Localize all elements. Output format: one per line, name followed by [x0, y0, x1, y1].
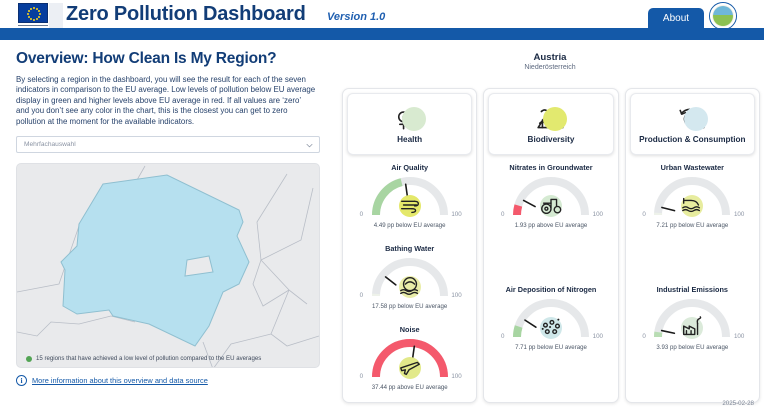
gauge-max-label: 100 — [451, 292, 461, 299]
category-icon-highlight — [543, 107, 567, 131]
eu-star-icon — [38, 16, 40, 18]
region-country: Austria — [336, 52, 764, 63]
map-legend: 15 regions that have achieved a low leve… — [26, 355, 261, 362]
gauge-min-label: 0 — [360, 373, 363, 380]
eu-star-icon — [30, 18, 32, 20]
info-icon: i — [16, 375, 27, 386]
eu-star-icon — [28, 10, 30, 12]
eea-emblem-logo — [709, 2, 737, 30]
eu-star-icon — [28, 16, 30, 18]
gauge-area: 0100 — [358, 173, 462, 221]
eu-flag-icon — [18, 3, 48, 23]
overview-description: By selecting a region in the dashboard, … — [16, 75, 316, 127]
category-icon-wrap — [675, 104, 709, 134]
gauge-area: 0100 — [499, 173, 603, 221]
app-version: Version 1.0 — [327, 11, 385, 23]
region-multiselect-placeholder: Mehrfachauswahl — [24, 141, 76, 148]
gauge-max-label: 100 — [593, 211, 603, 218]
selected-region-header: Austria Niederösterreich — [336, 40, 764, 71]
gauge-max-label: 100 — [734, 211, 744, 218]
indicator-gauge[interactable]: Air Deposition of Nitrogen 01007.71 pp b… — [484, 281, 617, 403]
gauge-max-label: 100 — [451, 373, 461, 380]
eu-star-icon — [33, 7, 35, 9]
indicators-panel: Austria Niederösterreich HealthAir Quali… — [336, 40, 764, 411]
airplane-noise-icon — [398, 355, 422, 379]
gauge-min-label: 0 — [360, 292, 363, 299]
indicator-title: Air Deposition of Nitrogen — [506, 285, 597, 294]
eu-logo-side-block — [49, 3, 63, 31]
indicator-caption: 1.93 pp above EU average — [515, 222, 588, 229]
selected-region-shape[interactable] — [61, 175, 249, 346]
page-title: Overview: How Clean Is My Region? — [16, 50, 322, 68]
indicator-caption: 3.93 pp below EU average — [656, 344, 728, 351]
eu-star-icon — [30, 8, 32, 10]
indicator-gauge[interactable]: Bathing Water 010017.58 pp below EU aver… — [343, 240, 476, 321]
gauge-max-label: 100 — [451, 211, 461, 218]
indicator-caption: 7.21 pp below EU average — [656, 222, 728, 229]
date-stamp: 2025-02-28 — [722, 400, 754, 407]
indicator-list: Nitrates in Groundwater 01001.93 pp abov… — [484, 159, 617, 402]
region-name: Niederösterreich — [336, 64, 764, 71]
gauge-max-label: 100 — [593, 333, 603, 340]
region-multiselect[interactable]: Mehrfachauswahl — [16, 136, 320, 153]
indicator-title: Noise — [400, 325, 420, 334]
factory-icon — [680, 315, 704, 339]
bathing-water-icon — [398, 274, 422, 298]
gauge-area: 0100 — [358, 254, 462, 302]
region-map[interactable]: 15 regions that have achieved a low leve… — [16, 163, 320, 368]
indicator-gauge[interactable]: Nitrates in Groundwater 01001.93 pp abov… — [484, 159, 617, 281]
indicator-gauge[interactable]: Industrial Emissions 01003.93 pp below E… — [626, 281, 759, 403]
indicator-title: Bathing Water — [385, 244, 434, 253]
category-label: Health — [397, 135, 422, 144]
gauge-area: 0100 — [358, 335, 462, 383]
more-information-link[interactable]: i More information about this overview a… — [16, 375, 322, 386]
indicator-title: Air Quality — [391, 163, 428, 172]
eu-star-icon — [33, 19, 35, 21]
category-icon-highlight — [402, 107, 426, 131]
gauge-area: 0100 — [499, 295, 603, 343]
indicator-gauge[interactable]: Air Quality 01004.49 pp below EU average — [343, 159, 476, 240]
overview-panel: Overview: How Clean Is My Region? By sel… — [0, 40, 336, 411]
gauge-area: 0100 — [640, 173, 744, 221]
indicator-title: Nitrates in Groundwater — [509, 163, 592, 172]
indicator-caption: 37.44 pp above EU average — [372, 384, 448, 391]
gauge-min-label: 0 — [501, 333, 504, 340]
category-column: BiodiversityNitrates in Groundwater 0100… — [483, 88, 618, 403]
category-columns: HealthAir Quality 01004.49 pp below EU a… — [342, 88, 760, 403]
gauge-area: 0100 — [640, 295, 744, 343]
wastewater-pipe-icon — [680, 193, 704, 217]
eea-emblem-ring — [710, 3, 736, 29]
category-card-health[interactable]: Health — [347, 93, 472, 155]
indicator-caption: 4.49 pp below EU average — [374, 222, 446, 229]
chevron-down-icon — [306, 142, 313, 149]
app-title: Zero Pollution Dashboard — [66, 3, 306, 26]
indicator-gauge[interactable]: Noise 010037.44 pp above EU average — [343, 321, 476, 402]
category-label: Biodiversity — [528, 135, 575, 144]
gauge-max-label: 100 — [734, 333, 744, 340]
air-quality-wind-icon — [398, 193, 422, 217]
eu-star-icon — [36, 18, 38, 20]
header-accent-bar — [0, 28, 764, 40]
indicator-list: Urban Wastewater 01007.21 pp below EU av… — [626, 159, 759, 402]
gauge-min-label: 0 — [642, 211, 645, 218]
nitrogen-particles-icon — [539, 315, 563, 339]
more-information-label: More information about this overview and… — [32, 376, 208, 385]
map-legend-label: 15 regions that have achieved a low leve… — [36, 355, 261, 362]
category-icon-wrap — [534, 104, 568, 134]
indicator-title: Industrial Emissions — [657, 285, 728, 294]
indicator-caption: 7.71 pp below EU average — [515, 344, 587, 351]
app-header: Zero Pollution Dashboard Version 1.0 Abo… — [0, 0, 764, 40]
indicator-title: Urban Wastewater — [661, 163, 724, 172]
category-column: Production & ConsumptionUrban Wastewater… — [625, 88, 760, 403]
category-icon-wrap — [393, 104, 427, 134]
category-card-biodiversity[interactable]: Biodiversity — [488, 93, 613, 155]
tab-about[interactable]: About — [648, 8, 704, 29]
legend-dot-icon — [26, 356, 32, 362]
tractor-icon — [539, 193, 563, 217]
category-card-production-consumption[interactable]: Production & Consumption — [630, 93, 755, 155]
category-icon-highlight — [684, 107, 708, 131]
map-canvas[interactable] — [17, 164, 320, 368]
category-column: HealthAir Quality 01004.49 pp below EU a… — [342, 88, 477, 403]
gauge-min-label: 0 — [642, 333, 645, 340]
eu-star-icon — [38, 10, 40, 12]
category-label: Production & Consumption — [639, 135, 745, 144]
gauge-min-label: 0 — [360, 211, 363, 218]
eu-star-icon — [39, 13, 41, 15]
gauge-min-label: 0 — [501, 211, 504, 218]
eu-star-icon — [27, 13, 29, 15]
indicator-caption: 17.58 pp below EU average — [372, 303, 447, 310]
indicator-gauge[interactable]: Urban Wastewater 01007.21 pp below EU av… — [626, 159, 759, 281]
indicator-list: Air Quality 01004.49 pp below EU average… — [343, 159, 476, 402]
